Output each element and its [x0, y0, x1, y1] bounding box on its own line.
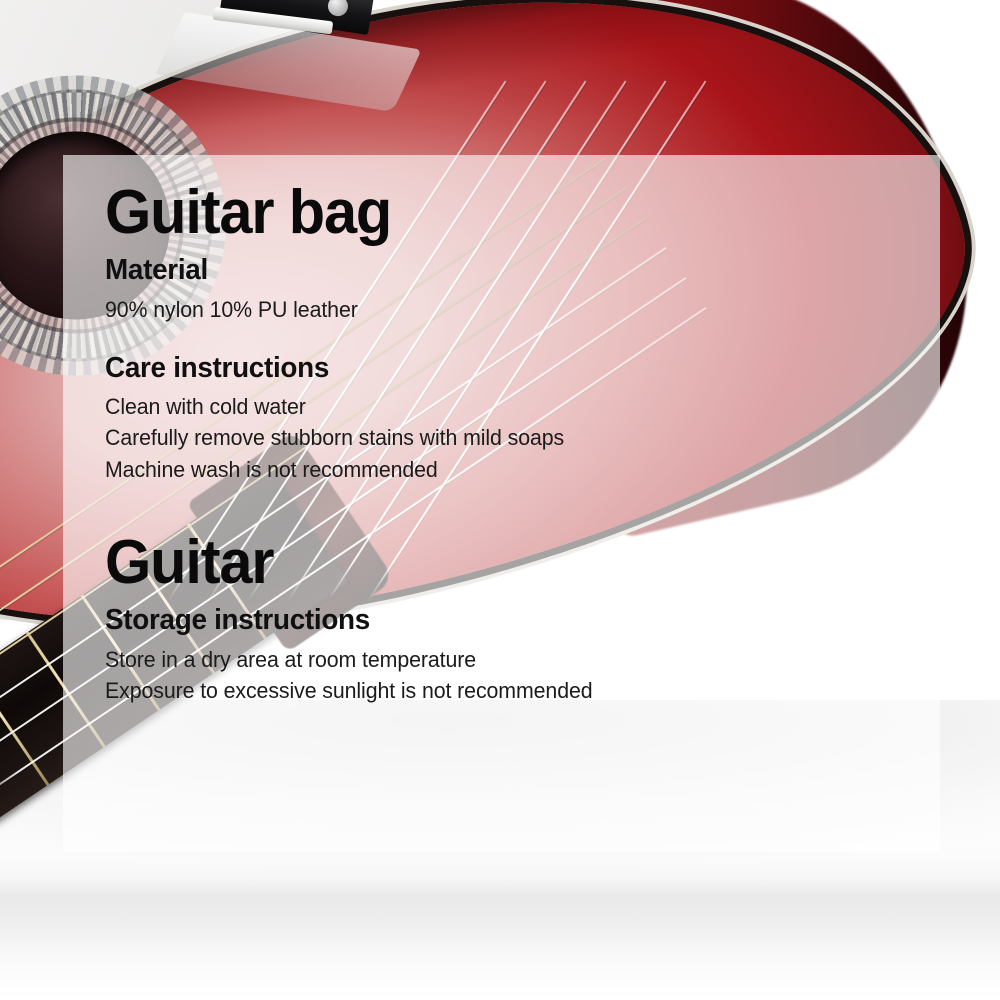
product-care-infographic: Guitar bag Material 90% nylon 10% PU lea… [0, 0, 1000, 1000]
care-line: Carefully remove stubborn stains with mi… [105, 422, 876, 453]
info-panel-content: Guitar bag Material 90% nylon 10% PU lea… [63, 155, 940, 852]
spacer [105, 325, 900, 351]
storage-line: Store in a dry area at room temperature [105, 644, 876, 675]
heading-care-instructions: Care instructions [105, 351, 868, 385]
heading-material: Material [105, 253, 868, 287]
section-title-guitar: Guitar [105, 531, 868, 595]
care-line: Machine wash is not recommended [105, 454, 876, 485]
care-line: Clean with cold water [105, 391, 876, 422]
material-line: 90% nylon 10% PU leather [105, 294, 876, 325]
section-guitar: Guitar Storage instructions Store in a d… [105, 531, 900, 706]
heading-storage-instructions: Storage instructions [105, 603, 868, 637]
section-title-guitar-bag: Guitar bag [105, 181, 868, 245]
storage-line: Exposure to excessive sunlight is not re… [105, 675, 876, 706]
spacer [105, 485, 900, 531]
section-guitar-bag: Guitar bag Material 90% nylon 10% PU lea… [105, 181, 900, 485]
